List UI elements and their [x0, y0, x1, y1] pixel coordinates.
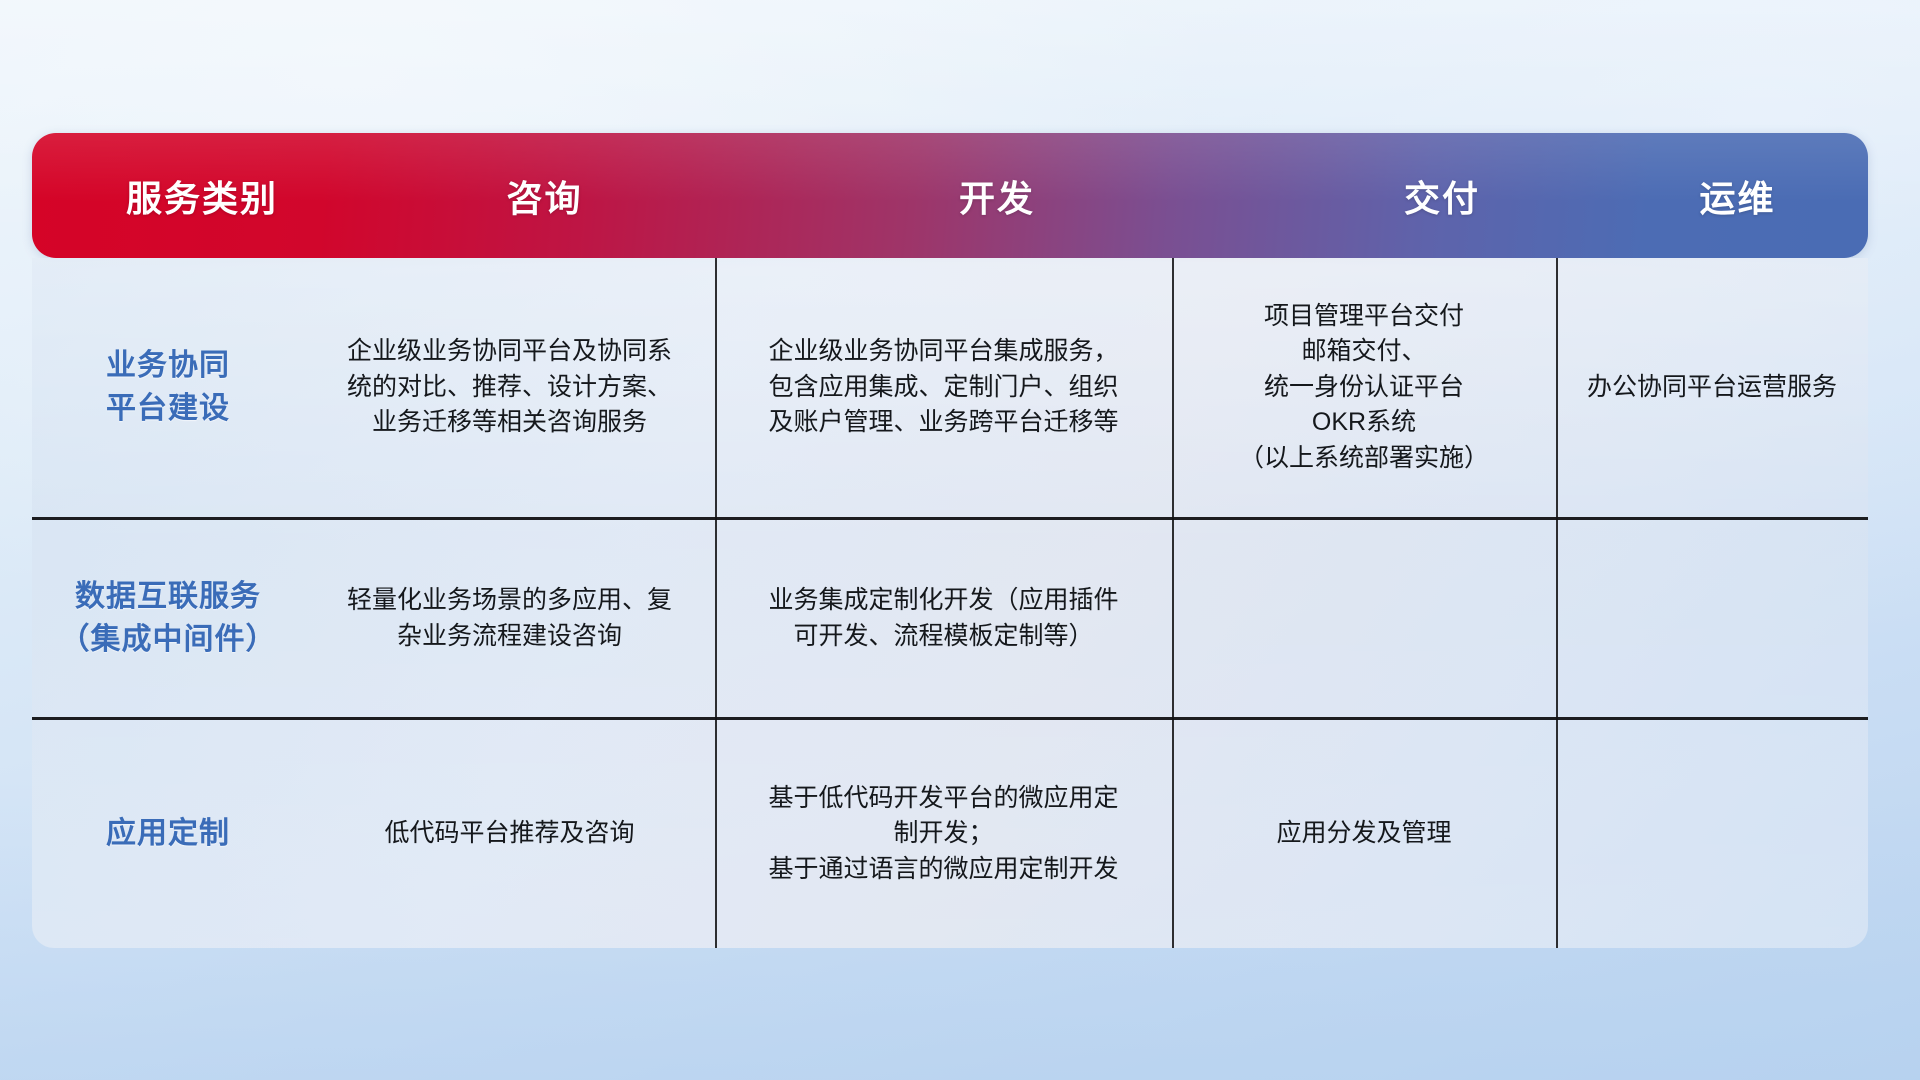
cell-delivery — [1172, 520, 1556, 717]
cell-category: 应用定制 — [32, 720, 304, 948]
cell-category: 数据互联服务 （集成中间件） — [32, 520, 304, 717]
column-header-consulting[interactable]: 咨询 — [372, 133, 717, 258]
cell-operations — [1556, 520, 1868, 717]
column-header-development[interactable]: 开发 — [717, 133, 1277, 258]
cell-development: 基于低代码开发平台的微应用定 制开发； 基于通过语言的微应用定制开发 — [715, 720, 1172, 948]
table-header-row: 服务类别 咨询 开发 交付 运维 — [32, 133, 1868, 258]
column-header-service-category[interactable]: 服务类别 — [32, 133, 372, 258]
table-row: 数据互联服务 （集成中间件） 轻量化业务场景的多应用、复 杂业务流程建设咨询 业… — [32, 520, 1868, 717]
cell-delivery: 项目管理平台交付 邮箱交付、 统一身份认证平台 OKR系统 （以上系统部署实施） — [1172, 258, 1556, 517]
column-header-operations[interactable]: 运维 — [1607, 133, 1868, 258]
cell-development: 业务集成定制化开发（应用插件 可开发、流程模板定制等） — [715, 520, 1172, 717]
table-row: 业务协同 平台建设 企业级业务协同平台及协同系 统的对比、推荐、设计方案、 业务… — [32, 258, 1868, 517]
cell-operations — [1556, 720, 1868, 948]
cell-consulting: 企业级业务协同平台及协同系 统的对比、推荐、设计方案、 业务迁移等相关咨询服务 — [304, 258, 715, 517]
table-row: 应用定制 低代码平台推荐及咨询 基于低代码开发平台的微应用定 制开发； 基于通过… — [32, 720, 1868, 948]
table-body: 业务协同 平台建设 企业级业务协同平台及协同系 统的对比、推荐、设计方案、 业务… — [32, 258, 1868, 948]
cell-consulting: 轻量化业务场景的多应用、复 杂业务流程建设咨询 — [304, 520, 715, 717]
cell-operations: 办公协同平台运营服务 — [1556, 258, 1868, 517]
cell-consulting: 低代码平台推荐及咨询 — [304, 720, 715, 948]
cell-category: 业务协同 平台建设 — [32, 258, 304, 517]
service-matrix-table: 服务类别 咨询 开发 交付 运维 业务协同 平台建设 企业级业务协同平台及协同系… — [32, 133, 1868, 948]
cell-development: 企业级业务协同平台集成服务， 包含应用集成、定制门户、组织 及账户管理、业务跨平… — [715, 258, 1172, 517]
cell-delivery: 应用分发及管理 — [1172, 720, 1556, 948]
column-header-delivery[interactable]: 交付 — [1277, 133, 1607, 258]
